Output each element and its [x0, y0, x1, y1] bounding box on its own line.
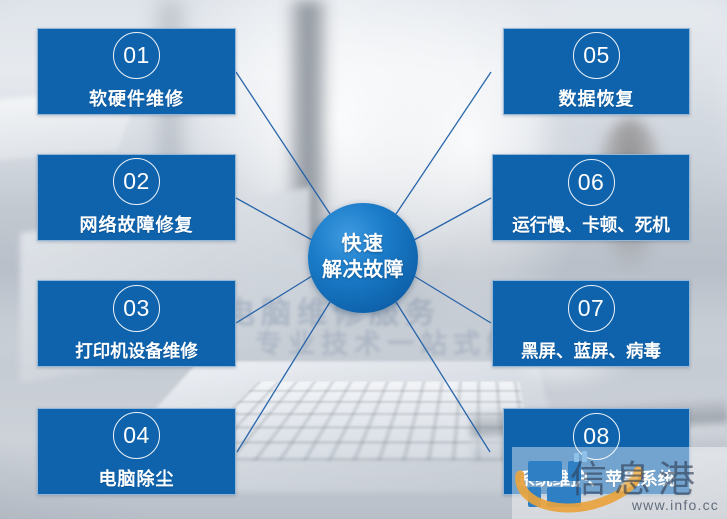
- card-label-01: 软硬件维修: [89, 85, 184, 111]
- card-label-05: 数据恢复: [559, 85, 635, 111]
- service-card-08[interactable]: 08 系统维护、苹果系统: [503, 408, 690, 495]
- card-number-badge-02: 02: [113, 158, 160, 205]
- card-number-badge-03: 03: [113, 285, 160, 332]
- service-card-01[interactable]: 01 软硬件维修: [37, 28, 236, 115]
- card-number-badge-04: 04: [113, 412, 160, 459]
- card-label-03: 打印机设备维修: [75, 338, 198, 363]
- center-hub[interactable]: 快速 解决故障: [308, 203, 418, 313]
- card-label-07: 黑屏、蓝屏、病毒: [521, 338, 661, 363]
- card-number-badge-06: 06: [568, 159, 615, 206]
- hub-title-line1: 快速: [342, 232, 385, 258]
- card-number-badge-08: 08: [573, 413, 620, 460]
- service-card-03[interactable]: 03 打印机设备维修: [37, 280, 236, 367]
- service-card-06[interactable]: 06 运行慢、卡顿、死机: [492, 154, 690, 241]
- service-card-04[interactable]: 04 电脑除尘: [37, 408, 236, 495]
- service-card-07[interactable]: 07 黑屏、蓝屏、病毒: [492, 280, 690, 367]
- service-card-02[interactable]: 02 网络故障修复: [37, 154, 236, 241]
- infographic-canvas: 电脑维修服务 专业技术一站式解决方案 01 软硬件维修 02 网络故障修复 03…: [0, 0, 727, 519]
- hub-title-line2: 解决故障: [322, 258, 404, 284]
- card-label-08: 系统维护、苹果系统: [518, 466, 676, 491]
- card-label-06: 运行慢、卡顿、死机: [512, 212, 670, 237]
- card-number-badge-01: 01: [113, 32, 160, 79]
- card-label-04: 电脑除尘: [99, 465, 175, 491]
- service-card-05[interactable]: 05 数据恢复: [503, 28, 690, 115]
- card-number-badge-07: 07: [568, 285, 615, 332]
- card-label-02: 网络故障修复: [80, 211, 194, 237]
- card-number-badge-05: 05: [573, 32, 620, 79]
